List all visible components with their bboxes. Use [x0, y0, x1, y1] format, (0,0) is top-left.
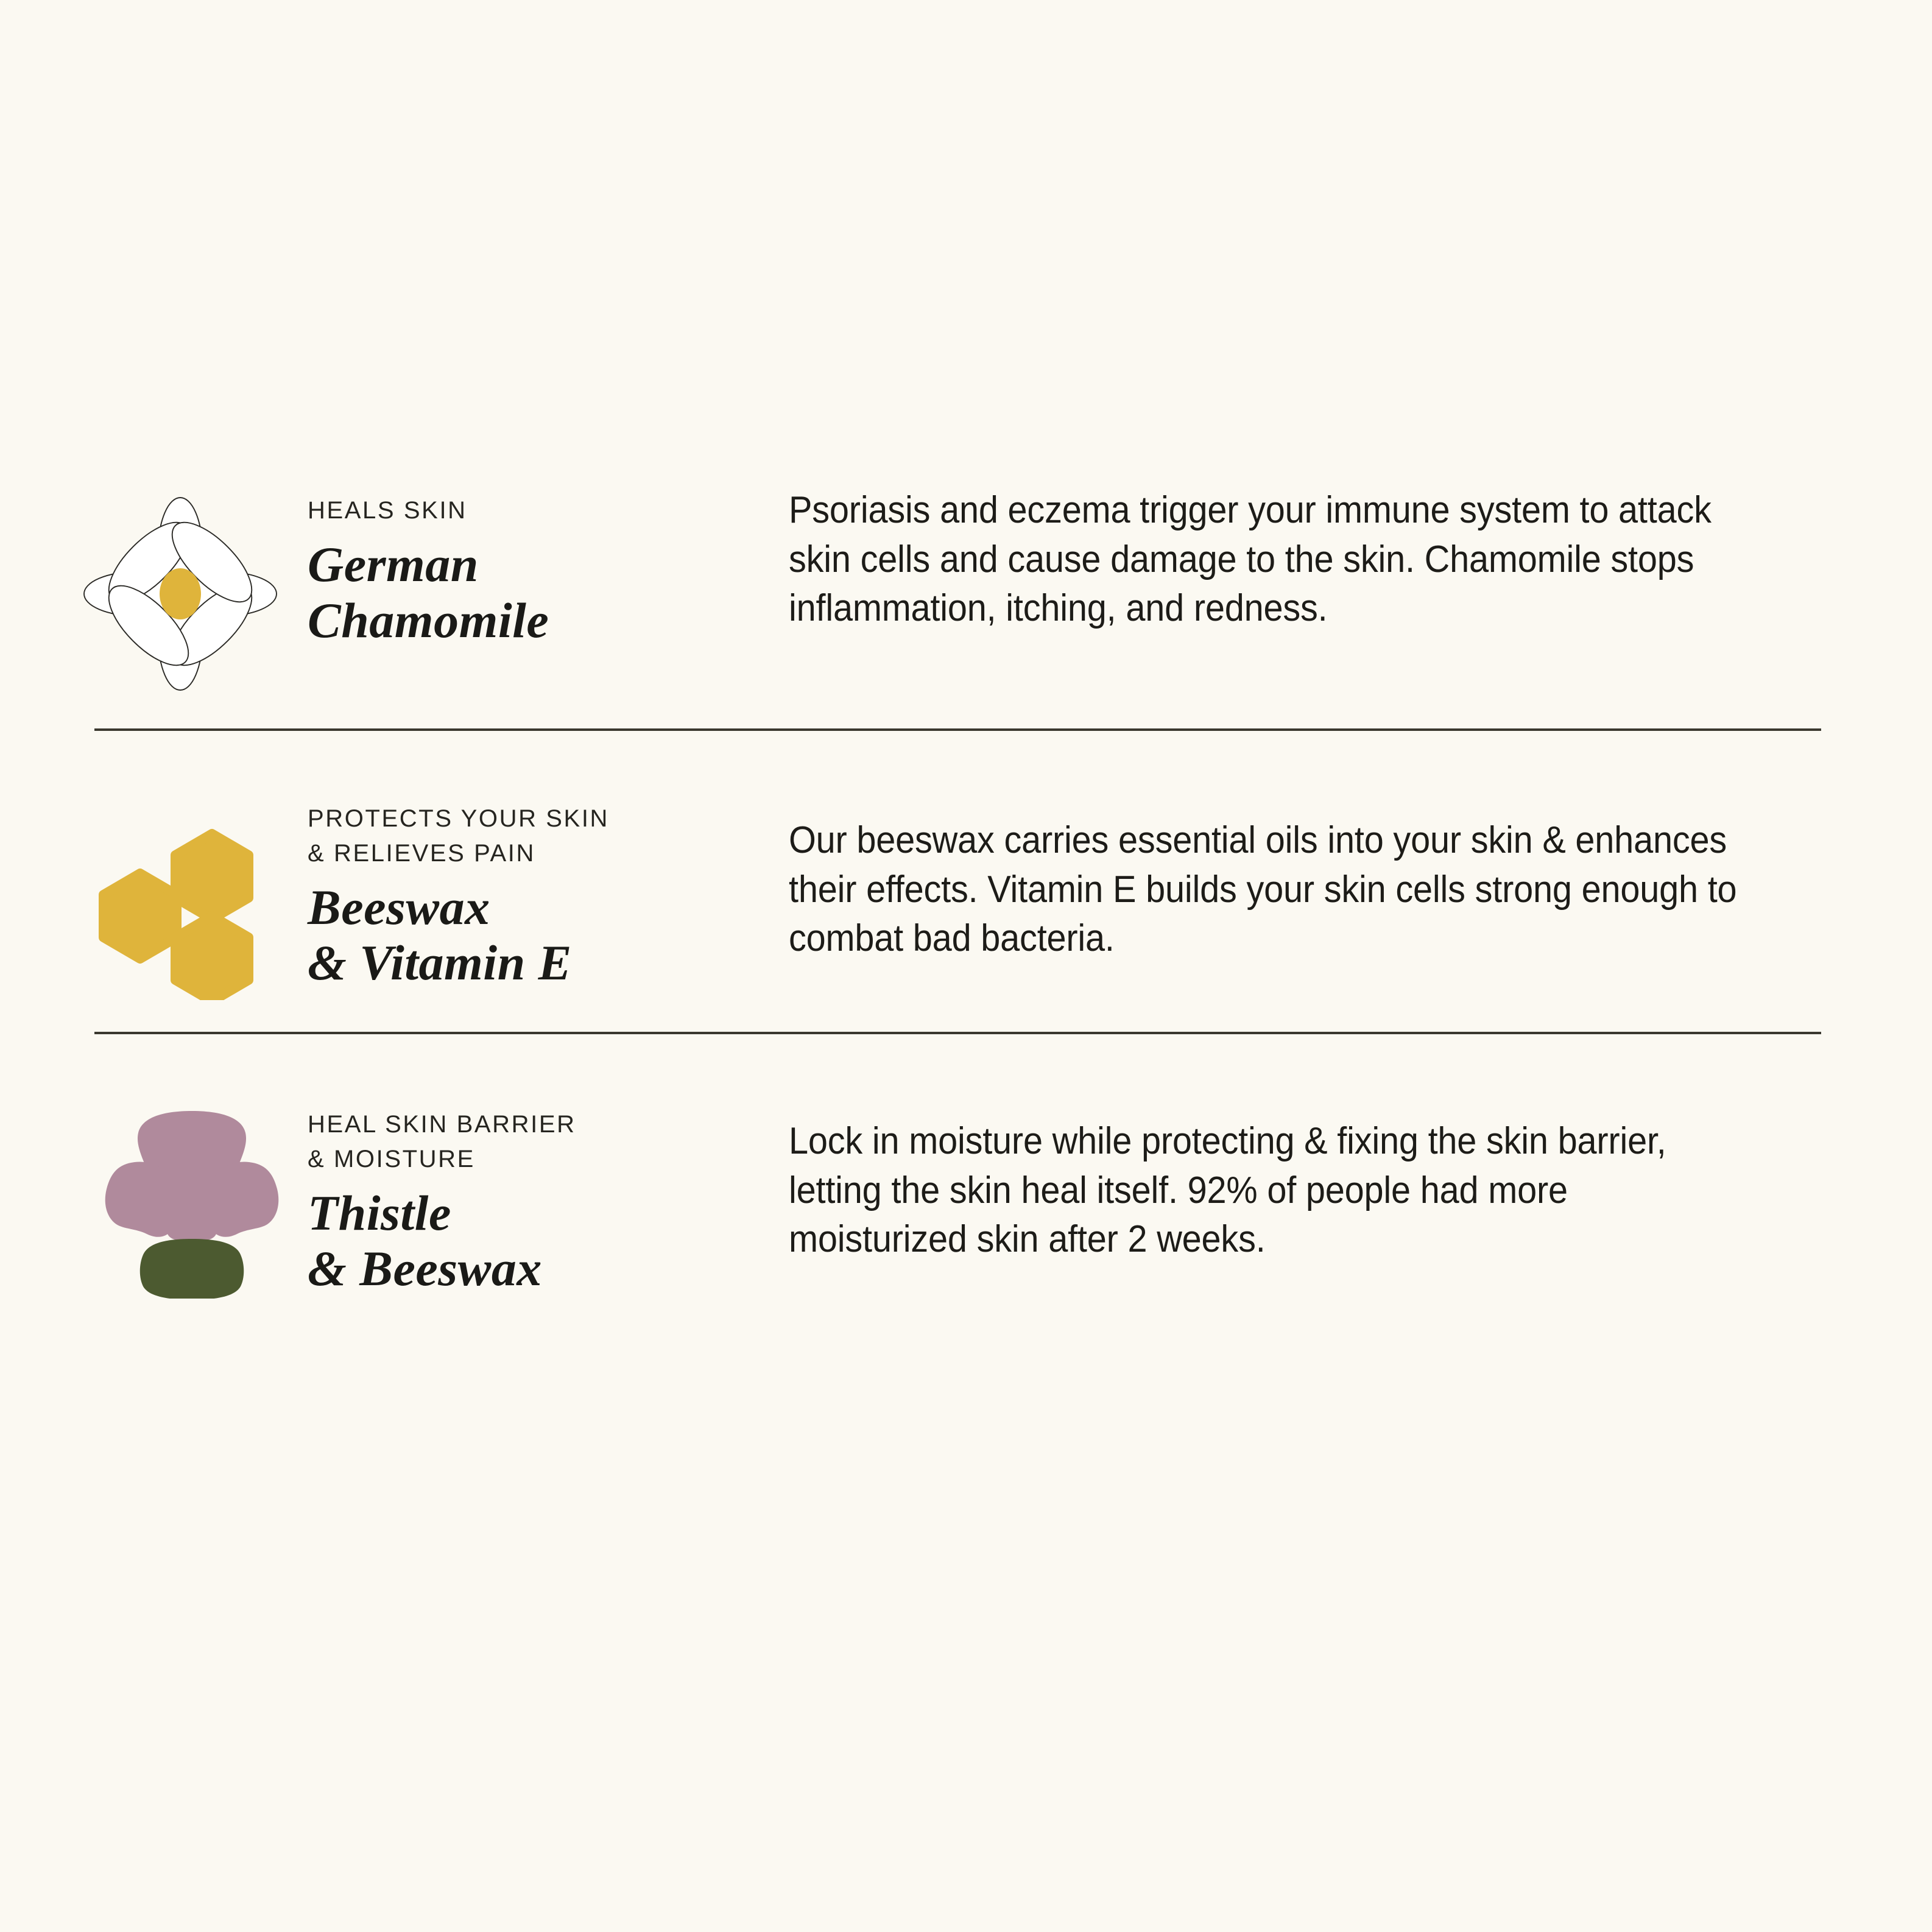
- benefit-body-cell: Lock in moisture while protecting & fixi…: [770, 1095, 1821, 1264]
- benefit-row-beeswax-vitamin-e: PROTECTS YOUR SKIN & RELIEVES PAIN Beesw…: [94, 731, 1821, 1032]
- benefits-list: HEALS SKIN German Chamomile Psoriasis an…: [94, 481, 1821, 1299]
- thistle-flower-icon: [100, 1104, 283, 1299]
- benefit-description: Lock in moisture while protecting & fixi…: [789, 1117, 1749, 1264]
- honeycomb-icon: [94, 799, 277, 1000]
- benefit-title: Beeswax & Vitamin E: [308, 880, 770, 992]
- benefit-row-german-chamomile: HEALS SKIN German Chamomile Psoriasis an…: [94, 481, 1821, 728]
- benefit-icon-cell: [94, 1095, 308, 1299]
- benefit-title: Thistle & Beeswax: [308, 1185, 770, 1297]
- benefit-name-cell: HEAL SKIN BARRIER & MOISTURE Thistle & B…: [308, 1095, 770, 1297]
- benefit-body-cell: Our beeswax carries essential oils into …: [770, 789, 1821, 964]
- benefit-eyebrow: HEAL SKIN BARRIER & MOISTURE: [308, 1107, 770, 1177]
- benefit-title: German Chamomile: [308, 537, 770, 649]
- daisy-flower-icon: [80, 493, 281, 694]
- benefit-icon-cell: [94, 481, 308, 694]
- benefit-name-cell: PROTECTS YOUR SKIN & RELIEVES PAIN Beesw…: [308, 789, 770, 991]
- benefit-eyebrow: HEALS SKIN: [308, 493, 770, 528]
- benefit-row-thistle-beeswax: HEAL SKIN BARRIER & MOISTURE Thistle & B…: [94, 1034, 1821, 1299]
- benefits-page: HEALS SKIN German Chamomile Psoriasis an…: [0, 0, 1932, 1932]
- benefit-icon-cell: [94, 789, 308, 1000]
- benefit-description: Psoriasis and eczema trigger your immune…: [789, 486, 1749, 633]
- benefit-name-cell: HEALS SKIN German Chamomile: [308, 481, 770, 648]
- thistle-base: [140, 1239, 244, 1299]
- benefit-description: Our beeswax carries essential oils into …: [789, 816, 1749, 964]
- benefit-eyebrow: PROTECTS YOUR SKIN & RELIEVES PAIN: [308, 802, 770, 871]
- benefit-body-cell: Psoriasis and eczema trigger your immune…: [770, 481, 1821, 633]
